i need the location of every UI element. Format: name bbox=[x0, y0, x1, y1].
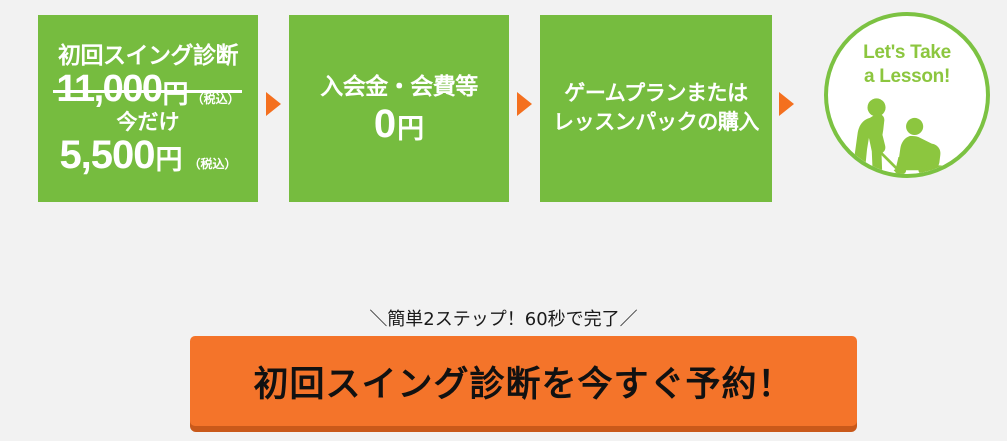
triangle-right-icon bbox=[266, 92, 281, 116]
fees-price-number: 0 bbox=[374, 104, 396, 144]
new-price-number: 5,500 bbox=[59, 135, 154, 175]
step-card-fees-price: 0 円 bbox=[374, 104, 424, 144]
lesson-circle-badge: Let's Take a Lesson! bbox=[824, 12, 990, 178]
step-card-diagnosis-old-price: 11,000 円 （税込） bbox=[56, 70, 239, 108]
old-price-number: 11,000 bbox=[56, 70, 161, 108]
step-card-plan-line1: ゲームプランまたは bbox=[564, 80, 748, 108]
step-card-plan-line2: レッスンパックの購入 bbox=[553, 109, 759, 137]
old-price-tax-note: （税込） bbox=[192, 93, 240, 105]
lesson-circle-line2: a Lesson! bbox=[828, 65, 986, 89]
new-price-tax-note: （税込） bbox=[189, 158, 237, 170]
step-card-diagnosis-title: 初回スイング診断 bbox=[58, 42, 238, 68]
lesson-circle-text: Let's Take a Lesson! bbox=[828, 41, 986, 89]
fees-price-unit: 円 bbox=[397, 116, 424, 143]
old-price-unit: 円 bbox=[163, 81, 189, 107]
reserve-swing-diagnosis-button[interactable]: 初回スイング診断を今すぐ予約！ bbox=[190, 336, 857, 426]
triangle-right-icon bbox=[517, 92, 532, 116]
promo-label: 今だけ bbox=[117, 111, 180, 134]
step-card-diagnosis: 初回スイング診断 11,000 円 （税込） 今だけ 5,500 円 （税込） bbox=[38, 15, 258, 202]
step-card-fees: 入会金・会費等 0 円 bbox=[289, 15, 509, 202]
cta-button-wrapper: 初回スイング診断を今すぐ予約！ bbox=[190, 336, 857, 432]
lesson-circle-line1: Let's Take bbox=[828, 41, 986, 65]
promo-steps-section: 初回スイング診断 11,000 円 （税込） 今だけ 5,500 円 （税込） … bbox=[0, 0, 1007, 441]
step-card-diagnosis-new-price: 5,500 円 （税込） bbox=[59, 135, 236, 175]
golfer-and-coach-icon bbox=[828, 96, 986, 176]
cta-lead-text: ＼簡単2ステップ！60秒で完了／ bbox=[0, 305, 1007, 331]
step-card-fees-title: 入会金・会費等 bbox=[320, 73, 478, 101]
step-card-plan: ゲームプランまたは レッスンパックの購入 bbox=[540, 15, 772, 202]
triangle-right-icon bbox=[779, 92, 794, 116]
new-price-unit: 円 bbox=[156, 147, 183, 174]
